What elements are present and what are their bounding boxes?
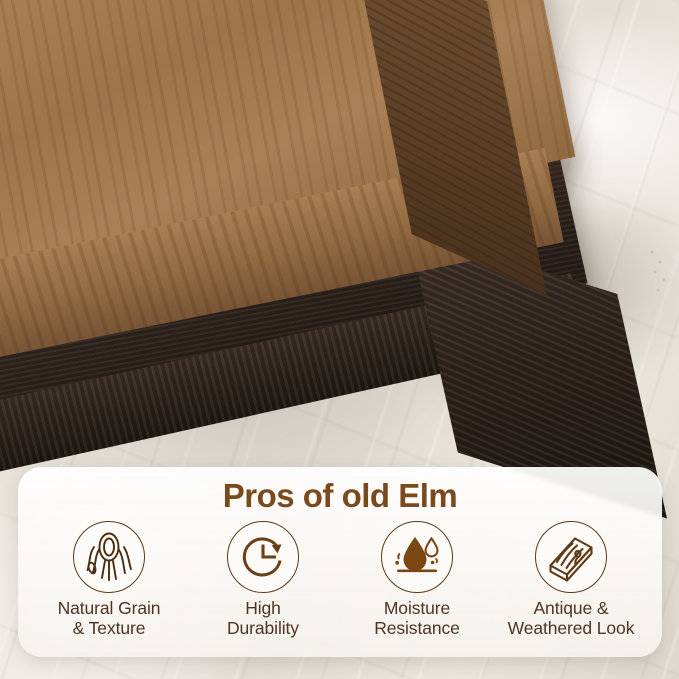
water-droplet-icon: [381, 521, 453, 593]
clock-refresh-icon: [227, 521, 299, 593]
feature-list: Natural Grain & Texture High Durability: [18, 512, 662, 638]
feature-antique-look[interactable]: Antique & Weathered Look: [494, 521, 648, 638]
product-infographic: Pros of old Elm: [0, 0, 679, 679]
pros-feature-card: Pros of old Elm: [18, 467, 662, 657]
feature-label: Antique & Weathered Look: [508, 599, 635, 638]
card-title: Pros of old Elm: [18, 467, 662, 512]
wood-grain-icon: [73, 521, 145, 593]
wood-plank-icon: [535, 521, 607, 593]
feature-label: Natural Grain & Texture: [58, 599, 161, 638]
feature-label: High Durability: [227, 599, 299, 638]
feature-high-durability[interactable]: High Durability: [186, 521, 340, 638]
dried-sprig-decoration: [646, 246, 679, 306]
feature-label: Moisture Resistance: [374, 599, 460, 638]
feature-moisture-resistance[interactable]: Moisture Resistance: [340, 521, 494, 638]
feature-natural-grain[interactable]: Natural Grain & Texture: [32, 521, 186, 638]
